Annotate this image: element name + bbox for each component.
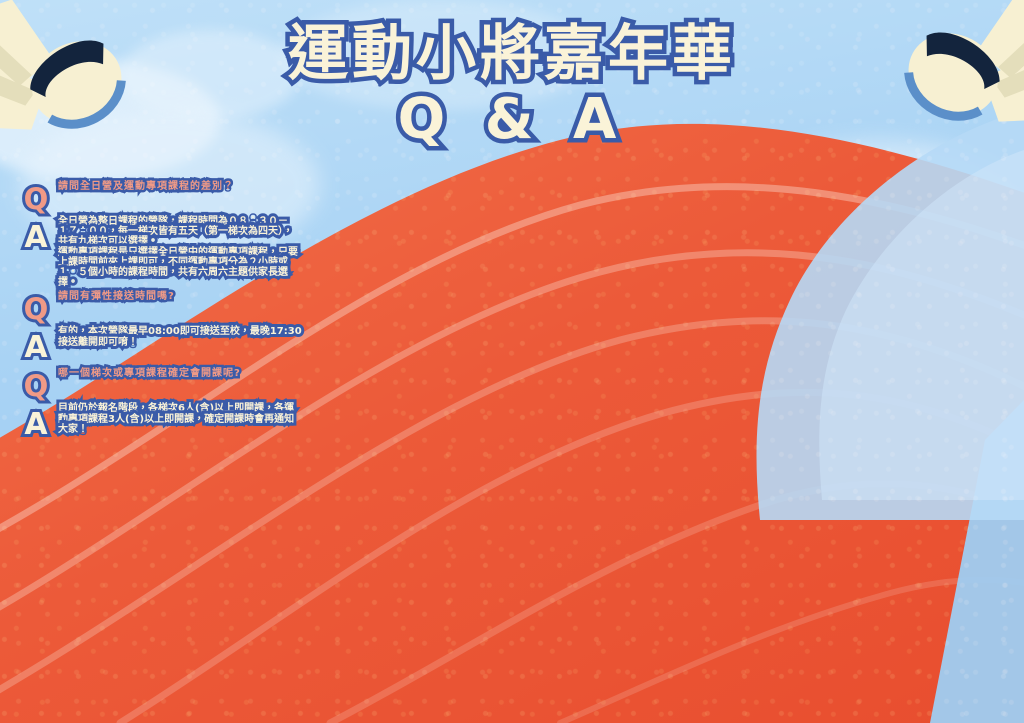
qa-question-row: Q請問有彈性接送時間嗎? (0, 292, 1024, 326)
page-subtitle: Q & A (0, 84, 1024, 148)
qa-text-line: 擇。 (58, 278, 1014, 288)
qa-text-body: 全日營為整日課程的營隊，課程時間為０８：３０－１７：００，每一梯次皆有五天（第一… (58, 217, 1014, 288)
qa-text-line: 請問全日營及運動專項課程的差別？ (58, 182, 1014, 192)
qa-text-line: １７：００，每一梯次皆有五天（第一梯次為四天）， (58, 227, 1014, 237)
qa-answer-row: A有的，本次營隊最早08:00即可接送至校，最晚17:30接送離開即可唷！ (0, 327, 1024, 365)
qa-text-line: 大家！ (58, 425, 1014, 435)
page-title: 運動小將嘉年華 (0, 0, 1024, 84)
qa-text-body: 目前仍於報名階段，各梯次6人(含)以上即開課，各運動專項課程3人(含)以上即開課… (58, 404, 1014, 435)
qa-text-line: 有的，本次營隊最早08:00即可接送至校，最晚17:30 (58, 327, 1014, 337)
qa-text-line: 請問有彈性接送時間嗎? (58, 292, 1014, 302)
answer-marker: A (14, 217, 58, 255)
poster-canvas: 運動小將嘉年華 Q & A Q請問全日營及運動專項課程的差別？A全日營為整日課程… (0, 0, 1024, 723)
qa-text-body: 請問有彈性接送時間嗎? (58, 292, 1014, 302)
qa-text-line: 接送離開即可唷！ (58, 338, 1014, 348)
question-marker: Q (14, 182, 58, 216)
question-marker: Q (14, 369, 58, 403)
answer-marker: A (14, 404, 58, 442)
qa-text-body: 哪一個梯次或專項課程確定會開課呢? (58, 369, 1014, 379)
question-marker: Q (14, 292, 58, 326)
qa-list: Q請問全日營及運動專項課程的差別？A全日營為整日課程的營隊，課程時間為０８：３０… (0, 182, 1024, 446)
qa-text-body: 請問全日營及運動專項課程的差別？ (58, 182, 1014, 192)
poster-header: 運動小將嘉年華 Q & A (0, 0, 1024, 148)
qa-question-row: Q請問全日營及運動專項課程的差別？ (0, 182, 1024, 216)
qa-text-line: 動專項課程3人(含)以上即開課，確定開課時會再通知 (58, 415, 1014, 425)
answer-marker: A (14, 327, 58, 365)
qa-text-line: 哪一個梯次或專項課程確定會開課呢? (58, 369, 1014, 379)
qa-text-line: 目前仍於報名階段，各梯次6人(含)以上即開課，各運 (58, 404, 1014, 414)
qa-answer-row: A全日營為整日課程的營隊，課程時間為０８：３０－１７：００，每一梯次皆有五天（第… (0, 217, 1024, 288)
qa-text-line: １．５個小時的課程時間，共有六周六主題供家長選 (58, 268, 1014, 278)
qa-answer-row: A目前仍於報名階段，各梯次6人(含)以上即開課，各運動專項課程3人(含)以上即開… (0, 404, 1024, 442)
qa-question-row: Q哪一個梯次或專項課程確定會開課呢? (0, 369, 1024, 403)
qa-text-body: 有的，本次營隊最早08:00即可接送至校，最晚17:30接送離開即可唷！ (58, 327, 1014, 347)
